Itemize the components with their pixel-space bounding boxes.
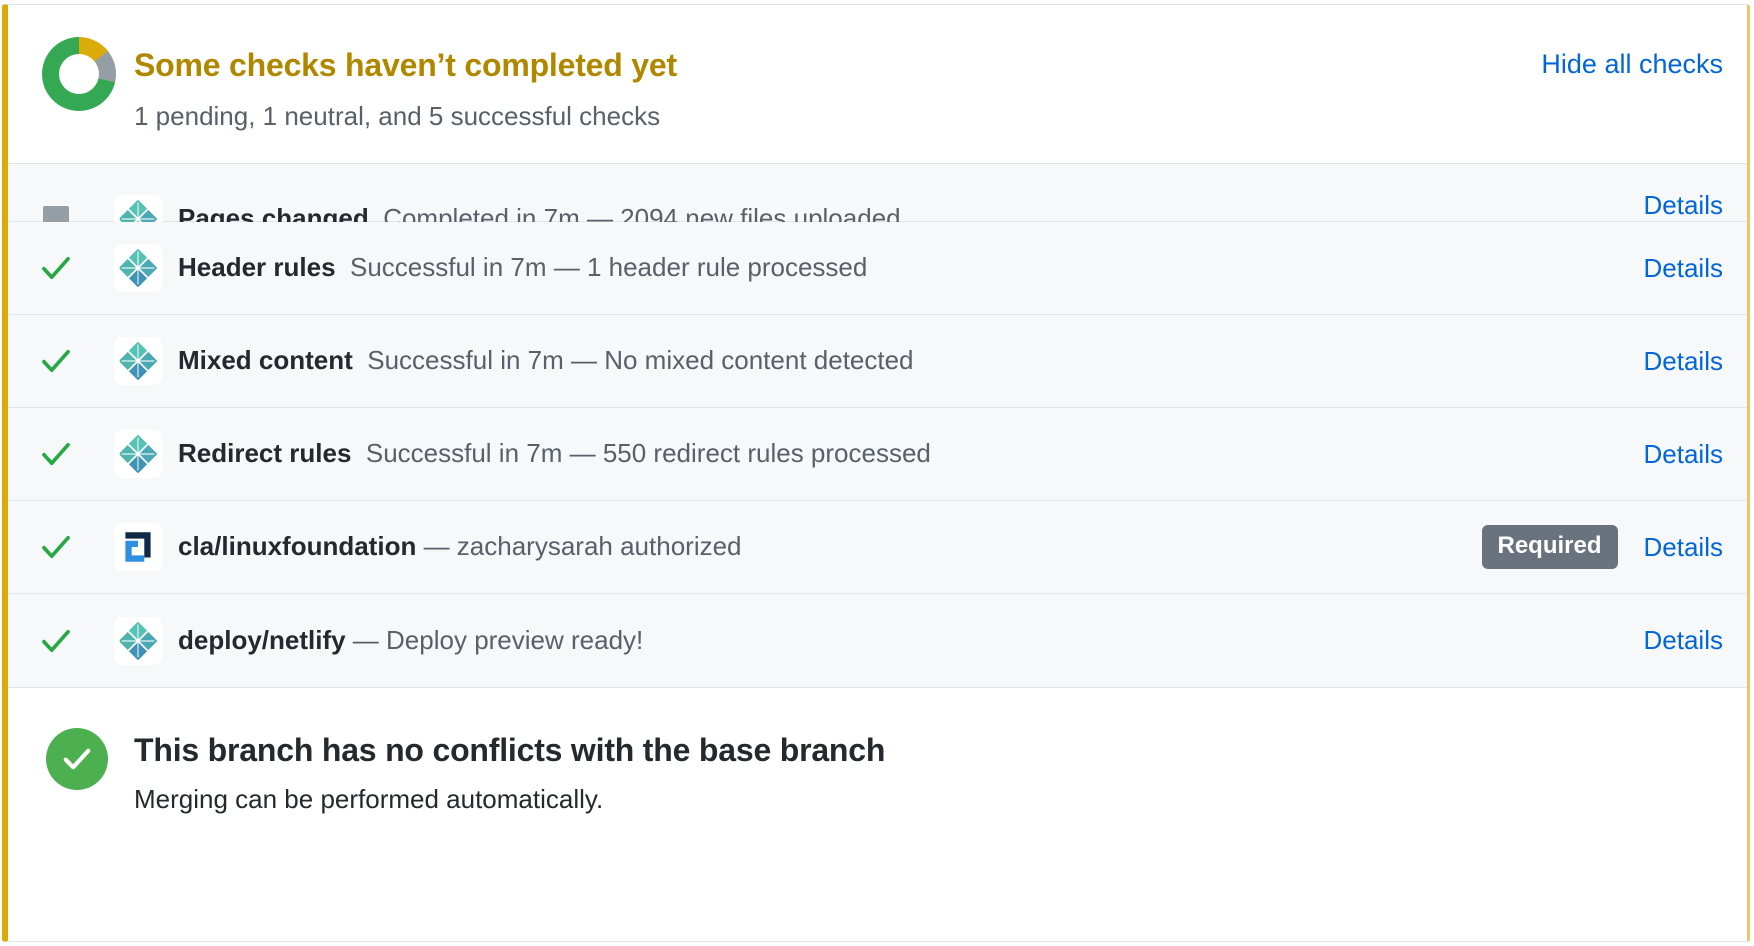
table-row[interactable]: cla/linuxfoundation — zacharysarah autho… bbox=[8, 501, 1747, 594]
details-link[interactable]: Details bbox=[1644, 190, 1723, 221]
check-description: Deploy preview ready! bbox=[386, 625, 643, 655]
merge-state-title: This branch has no conflicts with the ba… bbox=[134, 732, 885, 769]
check-description: Successful in 7m — 550 redirect rules pr… bbox=[366, 438, 931, 468]
checks-list: Pages changed Completed in 7m — 2094 new… bbox=[8, 163, 1747, 688]
avatar bbox=[114, 430, 162, 478]
check-icon bbox=[39, 624, 73, 658]
checks-status-subtitle: 1 pending, 1 neutral, and 5 successful c… bbox=[134, 101, 660, 132]
check-status-cell bbox=[8, 251, 104, 285]
check-text: cla/linuxfoundation — zacharysarah autho… bbox=[172, 531, 1482, 562]
avatar bbox=[114, 337, 162, 385]
table-row[interactable]: deploy/netlify — Deploy preview ready! D… bbox=[8, 594, 1747, 687]
check-circle-icon bbox=[46, 728, 108, 790]
status-badge: Required bbox=[1482, 525, 1618, 569]
table-row[interactable]: Pages changed Completed in 7m — 2094 new… bbox=[8, 164, 1747, 222]
check-name: Redirect rules bbox=[178, 438, 351, 468]
check-status-cell bbox=[8, 437, 104, 471]
checks-status-header: Some checks haven’t completed yet 1 pend… bbox=[8, 5, 1747, 163]
check-glyph-icon bbox=[59, 741, 95, 777]
check-avatar-cell bbox=[104, 430, 172, 478]
cla-linuxfoundation-icon bbox=[117, 526, 159, 568]
check-avatar-cell bbox=[104, 523, 172, 571]
pull-request-merge-box: Some checks haven’t completed yet 1 pend… bbox=[2, 4, 1750, 942]
table-row[interactable]: Mixed content Successful in 7m — No mixe… bbox=[8, 315, 1747, 408]
check-status-cell bbox=[8, 624, 104, 658]
details-link[interactable]: Details bbox=[1644, 253, 1723, 284]
screenshot-root: Some checks haven’t completed yet 1 pend… bbox=[0, 0, 1754, 946]
details-link[interactable]: Details bbox=[1644, 625, 1723, 656]
check-description: Successful in 7m — No mixed content dete… bbox=[367, 345, 913, 375]
check-text: Redirect rules Successful in 7m — 550 re… bbox=[172, 438, 1644, 469]
hide-all-checks-link[interactable]: Hide all checks bbox=[1541, 49, 1723, 80]
check-avatar-cell bbox=[104, 337, 172, 385]
check-status-cell bbox=[8, 530, 104, 564]
check-text: Mixed content Successful in 7m — No mixe… bbox=[172, 345, 1644, 376]
netlify-diamond-icon bbox=[117, 620, 159, 662]
merge-state-section: This branch has no conflicts with the ba… bbox=[8, 688, 1747, 941]
details-link[interactable]: Details bbox=[1644, 439, 1723, 470]
check-description: zacharysarah authorized bbox=[457, 531, 742, 561]
details-link[interactable]: Details bbox=[1644, 346, 1723, 377]
netlify-diamond-icon bbox=[117, 247, 159, 289]
check-icon bbox=[39, 344, 73, 378]
table-row[interactable]: Header rules Successful in 7m — 1 header… bbox=[8, 222, 1747, 315]
check-avatar-cell bbox=[104, 244, 172, 292]
check-separator: — bbox=[346, 625, 386, 655]
check-text: deploy/netlify — Deploy preview ready! bbox=[172, 625, 1644, 656]
avatar bbox=[114, 244, 162, 292]
check-icon bbox=[39, 251, 73, 285]
merge-state-subtitle: Merging can be performed automatically. bbox=[134, 784, 603, 815]
check-icon bbox=[39, 530, 73, 564]
check-status-cell bbox=[8, 344, 104, 378]
avatar bbox=[114, 523, 162, 571]
netlify-diamond-icon bbox=[117, 433, 159, 475]
check-name: cla/linuxfoundation bbox=[178, 531, 416, 561]
details-link[interactable]: Details bbox=[1644, 532, 1723, 563]
check-name: Mixed content bbox=[178, 345, 353, 375]
check-icon bbox=[39, 437, 73, 471]
table-row[interactable]: Redirect rules Successful in 7m — 550 re… bbox=[8, 408, 1747, 501]
checks-status-title: Some checks haven’t completed yet bbox=[134, 47, 677, 84]
check-text: Header rules Successful in 7m — 1 header… bbox=[172, 252, 1644, 283]
netlify-diamond-icon bbox=[117, 340, 159, 382]
check-description: Successful in 7m — 1 header rule process… bbox=[350, 252, 867, 282]
check-name: deploy/netlify bbox=[178, 625, 346, 655]
check-separator: — bbox=[416, 531, 456, 561]
check-avatar-cell bbox=[104, 617, 172, 665]
avatar bbox=[114, 617, 162, 665]
check-name: Header rules bbox=[178, 252, 336, 282]
checks-donut-chart bbox=[42, 37, 116, 111]
